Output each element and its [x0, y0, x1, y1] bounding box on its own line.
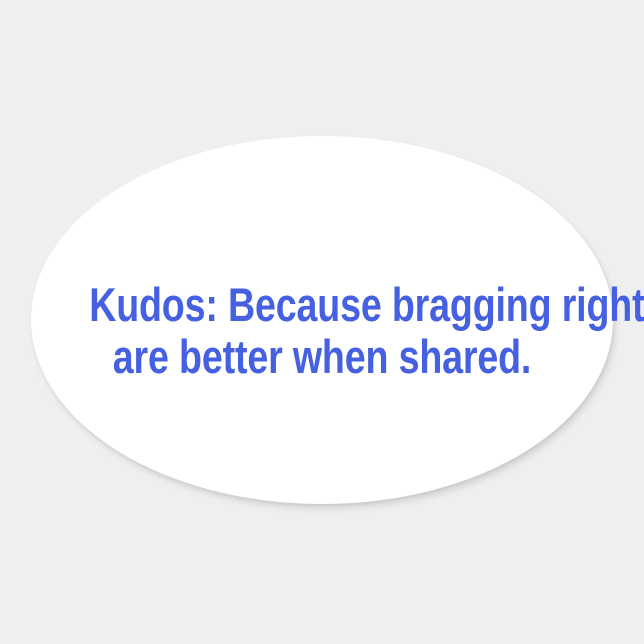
oval-sticker: Kudos: Because bragging rights are bette…	[31, 136, 613, 504]
sticker-text-line-1: Kudos: Because bragging rights	[89, 279, 555, 331]
sticker-text-block: Kudos: Because bragging rights are bette…	[89, 279, 555, 383]
sticker-text-line-2: are better when shared.	[89, 331, 555, 383]
sticker-canvas: Kudos: Because bragging rights are bette…	[0, 0, 644, 644]
